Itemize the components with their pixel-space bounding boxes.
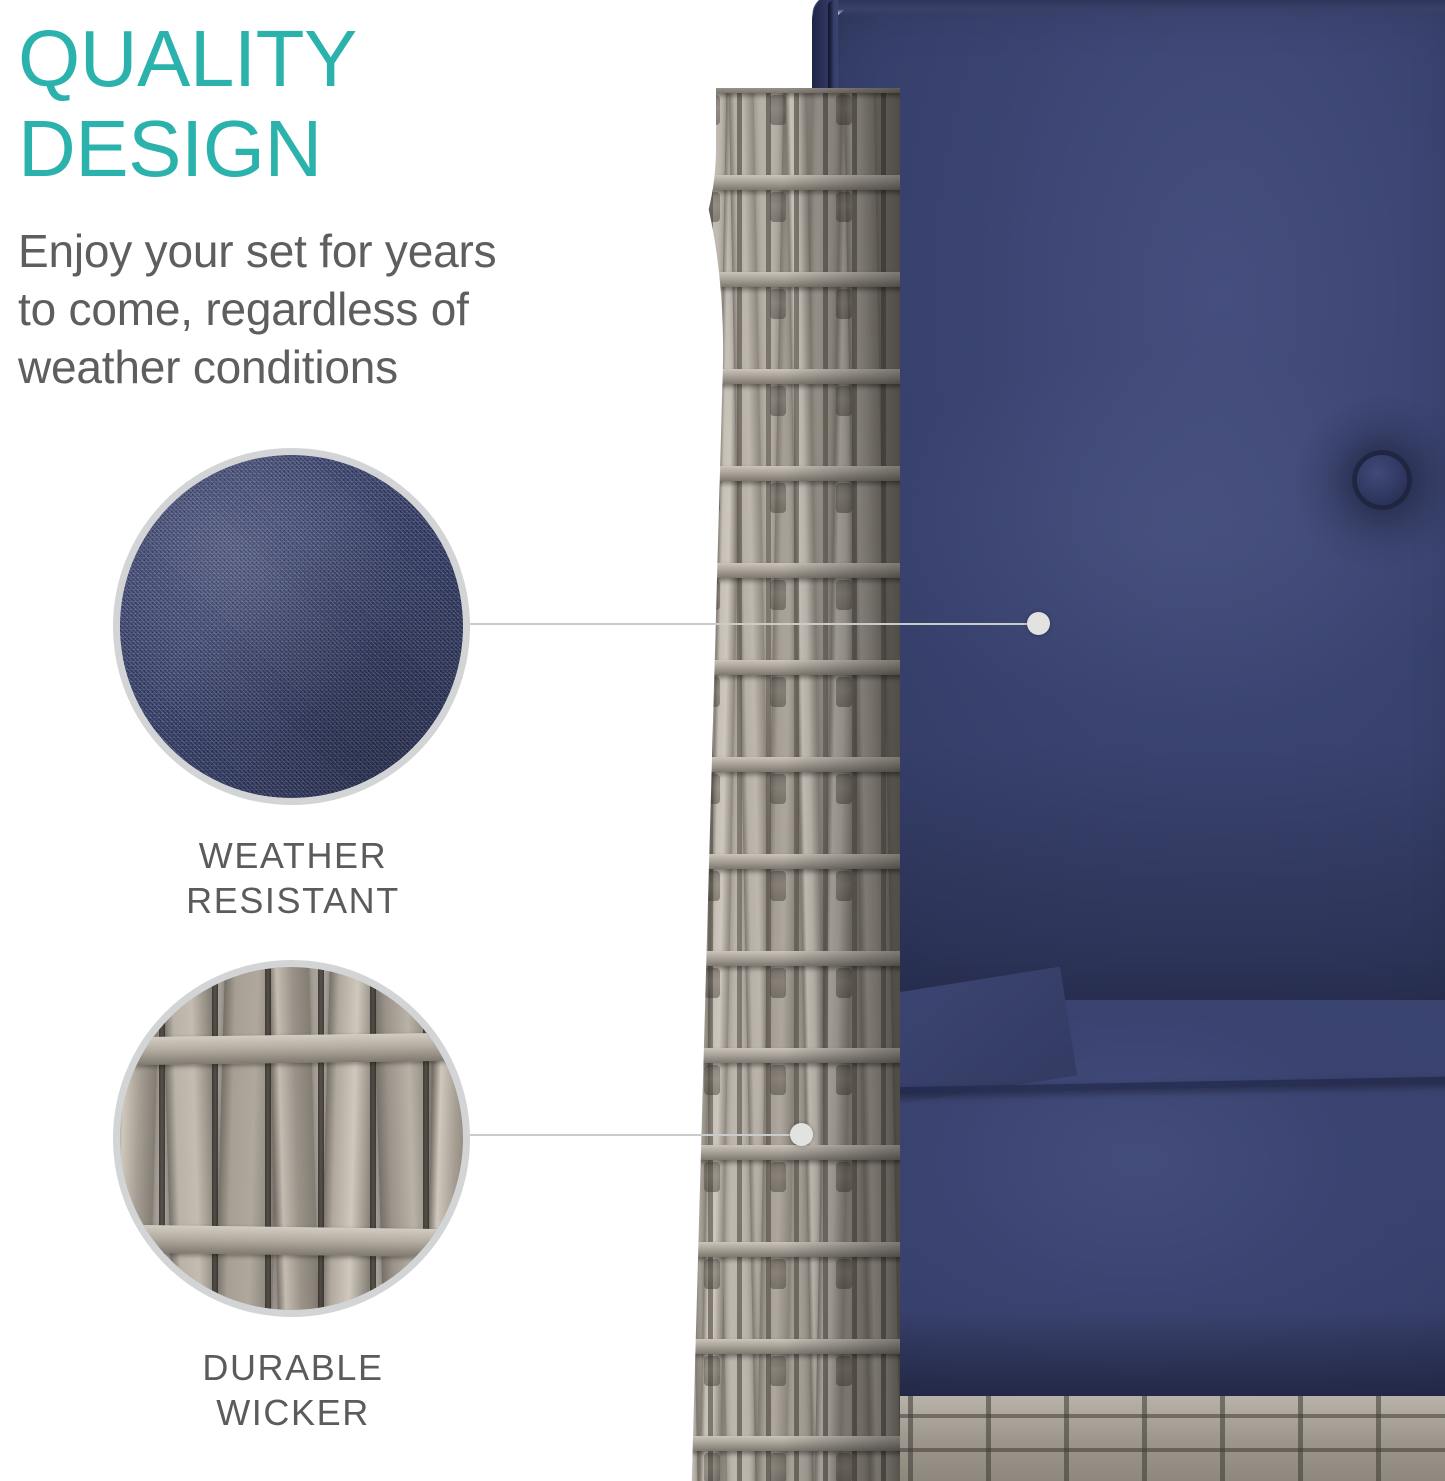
wicker-strand bbox=[120, 967, 160, 1310]
callout-label-weather-resistant: WEATHER RESISTANT bbox=[73, 833, 513, 923]
wicker-hole bbox=[704, 1453, 720, 1481]
wicker-hole bbox=[770, 192, 786, 222]
wicker-hole bbox=[770, 677, 786, 707]
wicker-gap bbox=[881, 88, 886, 1481]
wicker-gap bbox=[159, 967, 165, 1310]
wicker-hole bbox=[770, 1356, 786, 1386]
swatch-circle-weather-resistant bbox=[113, 448, 470, 805]
callout-label-durable-wicker: DURABLE WICKER bbox=[73, 1345, 513, 1435]
wicker-hole bbox=[770, 95, 786, 125]
leader-dot-durable-wicker bbox=[790, 1123, 813, 1146]
wicker-hole bbox=[836, 580, 852, 610]
product-feature-image: QUALITY DESIGN Enjoy your set for years … bbox=[0, 0, 1445, 1481]
cushion-tuft-button bbox=[1357, 455, 1407, 505]
wicker-hole bbox=[704, 1259, 720, 1289]
wicker-gap bbox=[265, 967, 271, 1310]
leader-dot-weather-resistant bbox=[1027, 612, 1050, 635]
page-subtitle: Enjoy your set for years to come, regard… bbox=[18, 222, 618, 396]
wicker-hole bbox=[704, 968, 720, 998]
wicker-hole bbox=[770, 1259, 786, 1289]
wicker-hole bbox=[836, 386, 852, 416]
leader-line-durable-wicker bbox=[468, 1134, 808, 1136]
cushion-top-edge bbox=[812, 0, 1445, 16]
wicker-hole bbox=[704, 1162, 720, 1192]
wicker-hole bbox=[836, 774, 852, 804]
wicker-hole bbox=[770, 1162, 786, 1192]
page-title: QUALITY DESIGN bbox=[18, 14, 638, 194]
wicker-hole bbox=[836, 1065, 852, 1095]
wicker-hole bbox=[770, 580, 786, 610]
leader-line-weather-resistant bbox=[468, 623, 1040, 625]
wicker-hole bbox=[836, 289, 852, 319]
product-photo bbox=[600, 0, 1445, 1481]
wicker-hole bbox=[770, 1453, 786, 1481]
wicker-hole bbox=[704, 1356, 720, 1386]
wicker-gap bbox=[212, 967, 218, 1310]
wicker-hole bbox=[770, 871, 786, 901]
wicker-hole bbox=[836, 192, 852, 222]
wicker-gap bbox=[737, 88, 742, 1481]
wicker-crossbar bbox=[120, 1032, 463, 1066]
wicker-strand bbox=[267, 967, 319, 1310]
wicker-hole bbox=[836, 677, 852, 707]
wicker-gap bbox=[423, 967, 429, 1310]
cushion-shadow bbox=[812, 744, 1445, 1004]
wicker-hole bbox=[770, 386, 786, 416]
seat-shadow bbox=[850, 1310, 1445, 1400]
wicker-hole bbox=[836, 1356, 852, 1386]
wicker-gap bbox=[794, 88, 799, 1481]
navy-fabric-swatch bbox=[120, 455, 463, 798]
wicker-hole bbox=[770, 774, 786, 804]
wicker-gap bbox=[318, 967, 324, 1310]
wicker-gap bbox=[852, 88, 857, 1481]
wicker-hole bbox=[770, 968, 786, 998]
wicker-hole bbox=[836, 483, 852, 513]
wicker-hole bbox=[770, 483, 786, 513]
wicker-hole bbox=[836, 1453, 852, 1481]
wicker-crossbar bbox=[120, 1224, 463, 1258]
wicker-hole bbox=[836, 871, 852, 901]
swatch-circle-durable-wicker bbox=[113, 960, 470, 1317]
wicker-swatch bbox=[120, 967, 463, 1310]
wicker-base bbox=[830, 1396, 1445, 1481]
wicker-hole bbox=[836, 968, 852, 998]
wicker-hole bbox=[770, 1065, 786, 1095]
wicker-hole bbox=[836, 1259, 852, 1289]
wicker-arm-panel bbox=[620, 88, 900, 1481]
wicker-gap bbox=[370, 967, 376, 1310]
wicker-gap bbox=[823, 88, 828, 1481]
seat-cushion bbox=[850, 1000, 1445, 1400]
wicker-hole bbox=[770, 289, 786, 319]
wicker-hole bbox=[836, 1162, 852, 1192]
wicker-hole bbox=[704, 1065, 720, 1095]
wicker-hole bbox=[836, 95, 852, 125]
